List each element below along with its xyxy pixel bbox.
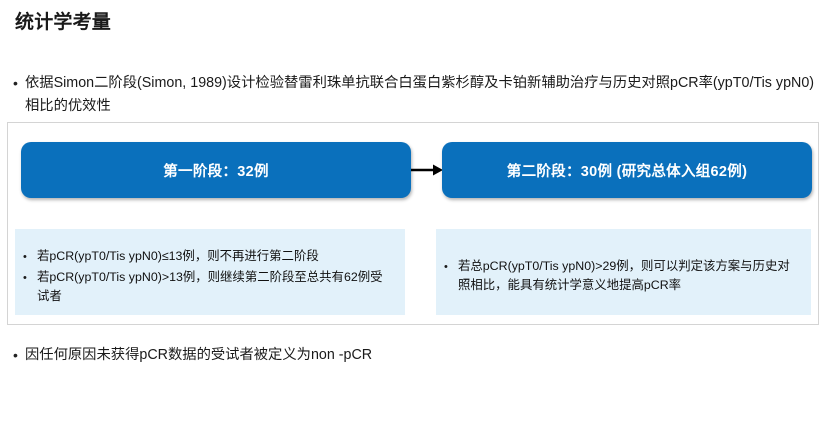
stage-1-criteria-text-1: 若pCR(ypT0/Tis ypN0)≤13例，则不再进行第二阶段 (37, 247, 387, 266)
stage-1-criteria-text-2: 若pCR(ypT0/Tis ypN0)>13例，则继续第二阶段至总共有62例受试… (37, 268, 387, 306)
stage-2-header-label: 第二阶段：30例 (研究总体入组62例) (507, 160, 747, 181)
top-bullet-text: 依据Simon二阶段(Simon, 1989)设计检验替雷利珠单抗联合白蛋白紫杉… (25, 72, 815, 118)
bullet-marker-icon: • (23, 247, 37, 267)
stage-2-criteria-text-1: 若总pCR(ypT0/Tis ypN0)>29例，则可以判定该方案与历史对照相比… (458, 257, 798, 295)
stage-2-header-bar: 第二阶段：30例 (研究总体入组62例) (442, 142, 812, 198)
stage-1-header-label: 第一阶段：32例 (163, 160, 269, 181)
bullet-marker-icon: • (23, 268, 37, 288)
simon-two-stage-diagram: 第一阶段：32例 第二阶段：30例 (研究总体入组62例) • 若pCR(ypT… (7, 122, 819, 325)
bullet-marker-icon: • (13, 344, 25, 366)
stage-1-criteria-panel: • 若pCR(ypT0/Tis ypN0)≤13例，则不再进行第二阶段 • 若p… (15, 229, 405, 315)
bullet-marker-icon: • (13, 72, 25, 94)
stage-2-criteria-panel: • 若总pCR(ypT0/Tis ypN0)>29例，则可以判定该方案与历史对照… (436, 229, 811, 315)
list-item: • 若pCR(ypT0/Tis ypN0)>13例，则继续第二阶段至总共有62例… (23, 268, 395, 306)
bullet-marker-icon: • (444, 257, 458, 277)
list-item: • 若pCR(ypT0/Tis ypN0)≤13例，则不再进行第二阶段 (23, 247, 395, 267)
stage-2-criteria-list: • 若总pCR(ypT0/Tis ypN0)>29例，则可以判定该方案与历史对照… (444, 257, 801, 296)
slide-canvas: 统计学考量 • 依据Simon二阶段(Simon, 1989)设计检验替雷利珠单… (0, 0, 830, 424)
bottom-bullet-text: 因任何原因未获得pCR数据的受试者被定义为non -pCR (25, 344, 372, 367)
stage-1-criteria-list: • 若pCR(ypT0/Tis ypN0)≤13例，则不再进行第二阶段 • 若p… (23, 247, 395, 307)
top-bullet-row: • 依据Simon二阶段(Simon, 1989)设计检验替雷利珠单抗联合白蛋白… (13, 72, 818, 118)
page-title: 统计学考量 (15, 9, 111, 37)
bottom-bullet-row: • 因任何原因未获得pCR数据的受试者被定义为non -pCR (13, 344, 713, 367)
stage-1-header-bar: 第一阶段：32例 (21, 142, 411, 198)
right-arrow-icon (411, 163, 443, 177)
list-item: • 若总pCR(ypT0/Tis ypN0)>29例，则可以判定该方案与历史对照… (444, 257, 801, 295)
